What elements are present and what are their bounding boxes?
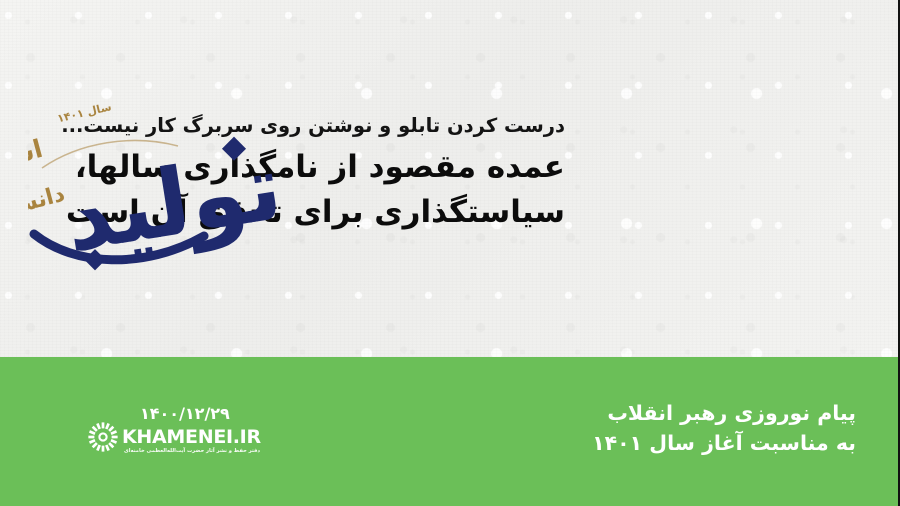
footer-caption-line-1: پیام نوروزی رهبر انقلاب bbox=[592, 399, 856, 429]
brand-block[interactable]: ۱۴۰۰/۱۲/۲۹ bbox=[88, 404, 298, 466]
emblem-year-text: سال ۱۴۰۱ bbox=[56, 100, 113, 125]
brand-tagline: دفتر حفظ و نشر آثار حضرت آیت‌الله‌العظمی… bbox=[124, 448, 260, 454]
publication-date: ۱۴۰۰/۱۲/۲۹ bbox=[140, 404, 230, 423]
brand-name: KHAMENEI.IR bbox=[122, 428, 261, 447]
gear-starburst-icon bbox=[88, 422, 118, 452]
year-slogan-emblem: سال ۱۴۰۱ اشتغال‌آفرین دانش‌بنیان، تولید bbox=[28, 84, 276, 280]
poster-banner: سال ۱۴۰۱ اشتغال‌آفرین دانش‌بنیان، تولید … bbox=[0, 0, 900, 506]
emblem-navy-group: تولید bbox=[34, 133, 276, 274]
footer-caption-line-2: به مناسبت آغاز سال ۱۴۰۱ bbox=[592, 429, 856, 459]
footer-caption: پیام نوروزی رهبر انقلاب به مناسبت آغاز س… bbox=[592, 399, 856, 459]
